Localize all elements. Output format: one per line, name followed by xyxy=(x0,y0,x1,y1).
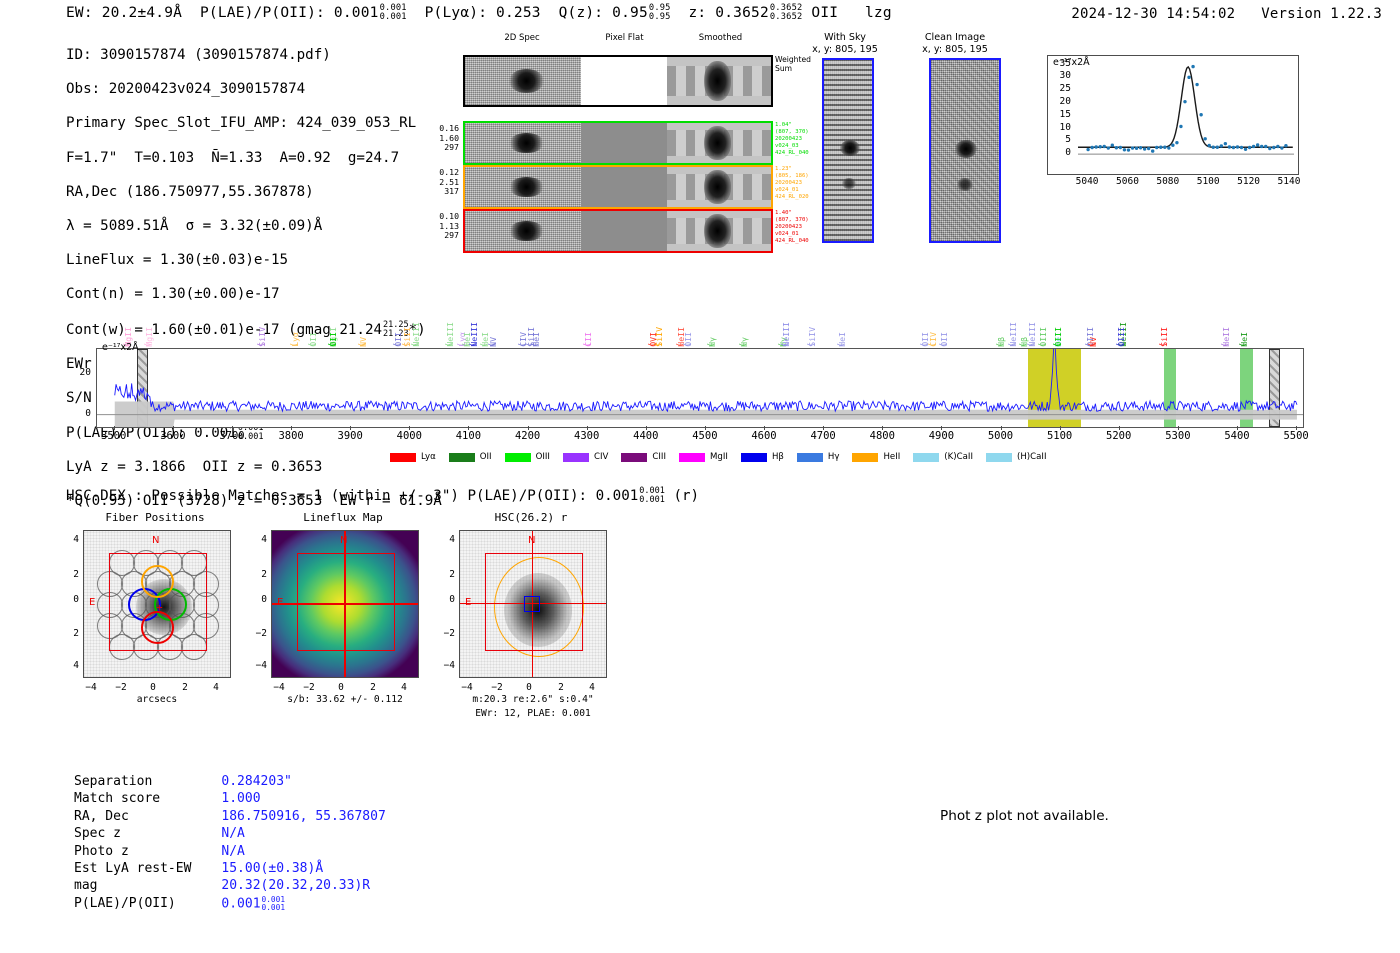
match-value: N/A xyxy=(221,826,385,841)
table-row: Est LyA rest-EW15.00(±0.38)Å xyxy=(74,861,386,876)
panel-ytick: −2 xyxy=(243,628,267,639)
panel-xtick: −2 xyxy=(483,682,511,693)
spectrum-line-bracket: ( xyxy=(1159,342,1169,347)
montage-row[interactable] xyxy=(463,121,773,165)
spectrum-xtick-mark xyxy=(1060,426,1061,430)
spectrum-xtick: 4000 xyxy=(385,430,433,442)
spectrum-xtick-mark xyxy=(173,426,174,430)
spectrum-xtick-mark xyxy=(1178,426,1179,430)
match-value: 186.750916, 55.367807 xyxy=(221,809,385,824)
header-flag: lzg xyxy=(865,5,892,21)
montage-row[interactable] xyxy=(463,55,773,107)
match-key: P(LAE)/P(OII) xyxy=(74,896,219,912)
panel-xtick: −2 xyxy=(107,682,135,693)
header-z: z: 0.3652 xyxy=(689,5,769,21)
spectrum-xtick-mark xyxy=(1296,426,1297,430)
match-value: N/A xyxy=(221,844,385,859)
compass-north-label: N xyxy=(152,535,159,546)
spectrum-legend-item: (H)CaII xyxy=(986,452,1047,462)
match-value: 1.000 xyxy=(221,791,385,806)
spectrum-xtick: 3800 xyxy=(267,430,315,442)
montage-row-left-label: 0.10 1.13 297 xyxy=(425,212,459,241)
fiber-marker-red xyxy=(141,611,174,644)
spectrum-flux-unit: e⁻¹⁷x2Å xyxy=(102,342,139,353)
legend-swatch xyxy=(621,453,647,462)
spectrum-line-bracket: ( xyxy=(739,342,749,347)
spectrum-line-bracket: ( xyxy=(257,342,267,347)
panel-ytick: 2 xyxy=(243,569,267,580)
match-key: Match score xyxy=(74,791,219,806)
cell-smoothed xyxy=(667,57,771,105)
table-row: RA, Dec186.750916, 55.367807 xyxy=(74,809,386,824)
zoom-xtick: 5120 xyxy=(1227,176,1271,187)
cell-2d-spec xyxy=(465,167,581,207)
target-crosshair: + xyxy=(156,601,163,614)
table-row: Separation0.284203" xyxy=(74,774,386,789)
zoomplot-canvas xyxy=(1048,56,1300,176)
header-plae: P(LAE)/P(OII): 0.001 xyxy=(200,5,379,21)
spectrum-xtick-mark xyxy=(468,426,469,430)
spectrum-xtick-mark xyxy=(941,426,942,430)
cutout-title-clean: Clean Image x, y: 805, 195 xyxy=(905,32,1005,55)
cell-2d-spec xyxy=(465,211,581,251)
panel-xtick: 4 xyxy=(202,682,230,693)
panel-xtick: 4 xyxy=(390,682,418,693)
montage-row[interactable] xyxy=(463,209,773,253)
spectrum-xtick-mark xyxy=(882,426,883,430)
cutout-clean-title: Clean Image xyxy=(905,32,1005,44)
spectrum-xtick-mark xyxy=(232,426,233,430)
header-qz-lo: 0.95 xyxy=(649,13,671,22)
hsc-match-headline: HSC-DEX : Possible Matches = 1 (within +… xyxy=(66,487,699,505)
spectrum-xtick: 4800 xyxy=(858,430,906,442)
panel-xtick: −2 xyxy=(295,682,323,693)
spectrum-line-bracket: ( xyxy=(469,342,479,347)
zoom-ytick: 25 xyxy=(1043,83,1071,94)
hsc-headline-lo: 0.001 xyxy=(639,496,665,505)
panel-xtick: 2 xyxy=(547,682,575,693)
lineflux-red-box xyxy=(297,553,395,651)
match-details-body: Separation0.284203"Match score1.000RA, D… xyxy=(74,774,386,912)
spectrum-xtick: 3600 xyxy=(149,430,197,442)
compass-north-label-2: N xyxy=(340,535,347,546)
spectrum-xtick: 4700 xyxy=(799,430,847,442)
legend-label: CIV xyxy=(594,452,608,462)
montage-row-left-label: 0.12 2.51 317 xyxy=(425,168,459,197)
hsc-headline-tail: (r) xyxy=(673,488,699,504)
panel-xtick: 2 xyxy=(171,682,199,693)
spectrum-line-bracket: ( xyxy=(583,342,593,347)
timestamp: 2024-12-30 14:54:02 xyxy=(1071,6,1235,22)
cell-smoothed xyxy=(667,123,771,163)
panel-ytick: 2 xyxy=(55,628,79,639)
spectrum-xtick-mark xyxy=(114,426,115,430)
legend-label: (K)CaII xyxy=(944,452,973,462)
spectrum-legend-item: MgII xyxy=(679,452,728,462)
table-row: Spec zN/A xyxy=(74,826,386,841)
panel-ytick: 0 xyxy=(431,594,455,605)
photoz-unavailable-note: Phot z plot not available. xyxy=(940,808,1109,824)
spectrum-ytick: 20 xyxy=(60,367,91,378)
spectrum-xtick: 5400 xyxy=(1213,430,1261,442)
spectrum-line-bracket: ( xyxy=(144,342,154,347)
spectrum-xtick-mark xyxy=(291,426,292,430)
legend-swatch xyxy=(449,453,475,462)
emission-line-zoom-plot: e⁻¹⁷x2Å 05101520253035 50405060508051005… xyxy=(1047,55,1299,175)
panel-ytick: 0 xyxy=(243,594,267,605)
hsc-headline-text: HSC-DEX : Possible Matches = 1 (within +… xyxy=(66,488,638,504)
montage-weighted-sum-label: Weighted Sum xyxy=(775,55,811,73)
legend-label: HeII xyxy=(883,452,900,462)
match-details-table: Separation0.284203"Match score1.000RA, D… xyxy=(72,772,388,914)
match-value: 0.0010.0010.001 xyxy=(221,896,385,912)
header-z-lo: 0.3652 xyxy=(770,13,803,22)
match-key: RA, Dec xyxy=(74,809,219,824)
spectrum-xtick: 4300 xyxy=(563,430,611,442)
spectrum-xtick: 4200 xyxy=(504,430,552,442)
match-key: Spec z xyxy=(74,826,219,841)
spectrum-xtick: 4500 xyxy=(681,430,729,442)
panel-xtick: 0 xyxy=(327,682,355,693)
spectrum-xtick-mark xyxy=(705,426,706,430)
hsc-r-caption2: EWr: 12, PLAE: 0.001 xyxy=(431,708,635,720)
spectrum-legend-item: Hβ xyxy=(741,452,784,462)
header-plae-lo: 0.001 xyxy=(380,13,407,22)
spectrum-xtick: 4600 xyxy=(740,430,788,442)
spectrum-line-bracket: ( xyxy=(1221,342,1231,347)
spectrum-legend-item: OII xyxy=(449,452,492,462)
match-key: Photo z xyxy=(74,844,219,859)
table-row: P(LAE)/P(OII)0.0010.0010.001 xyxy=(74,896,386,912)
info-lineflux: LineFlux = 1.30(±0.03)e-15 xyxy=(66,252,442,269)
panel-ytick: 4 xyxy=(431,534,455,545)
zoom-xtick: 5100 xyxy=(1186,176,1230,187)
spectrum-xtick: 5100 xyxy=(1036,430,1084,442)
compass-east-label-3: E xyxy=(465,597,471,608)
spectrum-line-bracket: ( xyxy=(683,342,693,347)
spectrum-legend-item: OIII xyxy=(505,452,550,462)
zoom-ytick: 0 xyxy=(1043,147,1071,158)
match-value: 0.284203" xyxy=(221,774,385,789)
spectrum-xtick-mark xyxy=(823,426,824,430)
fiber-positions-xlabel: arcsecs xyxy=(83,694,231,706)
panel-ytick: 2 xyxy=(55,569,79,580)
cell-smoothed xyxy=(667,211,771,251)
spectrum-xtick: 3900 xyxy=(326,430,374,442)
montage-row-left-label: 0.16 1.60 297 xyxy=(425,124,459,153)
compass-north-label-3: N xyxy=(528,535,535,546)
spectrum-xtick-mark xyxy=(528,426,529,430)
match-key: Separation xyxy=(74,774,219,789)
legend-swatch xyxy=(679,453,705,462)
match-value: 15.00(±0.38)Å xyxy=(221,861,385,876)
version-label: Version 1.22.3 xyxy=(1261,6,1382,22)
panel-ytick: 4 xyxy=(55,534,79,545)
legend-swatch xyxy=(505,453,531,462)
fiber-positions-title: Fiber Positions xyxy=(55,512,255,524)
spectrum-line-bracket: ( xyxy=(781,342,791,347)
legend-label: OIII xyxy=(536,452,550,462)
info-radec: RA,Dec (186.750977,55.367878) xyxy=(66,184,442,201)
spectrum-xtick: 4900 xyxy=(917,430,965,442)
spectrum-line-bracket: ( xyxy=(308,342,318,347)
legend-swatch xyxy=(986,453,1012,462)
spectrum-legend-item: CIII xyxy=(621,452,666,462)
spectrum-xtick-mark xyxy=(1001,426,1002,430)
panel-ytick: −2 xyxy=(431,628,455,639)
spectrum-legend-item: (K)CaII xyxy=(913,452,973,462)
spectrum-xtick-mark xyxy=(646,426,647,430)
cutout-title-with-sky: With Sky x, y: 805, 195 xyxy=(800,32,890,55)
legend-label: (H)CaII xyxy=(1017,452,1047,462)
spectrum-xtick: 3700 xyxy=(208,430,256,442)
spectrum-line-bracket: ( xyxy=(445,342,455,347)
cell-smoothed xyxy=(667,167,771,207)
spectrum-line-bracket: ( xyxy=(1038,342,1048,347)
legend-swatch xyxy=(563,453,589,462)
spectrum-xtick: 3500 xyxy=(90,430,138,442)
hsc-r-title: HSC(26.2) r xyxy=(431,512,631,524)
spectrum-line-bracket: ( xyxy=(1239,342,1249,347)
hsc-r-image[interactable]: N E xyxy=(459,530,607,678)
fiber-marker-orange xyxy=(141,565,174,598)
header-qz: Q(z): 0.95 xyxy=(559,5,648,21)
legend-label: MgII xyxy=(710,452,728,462)
info-obs: Obs: 20200423v024_3090157874 xyxy=(66,81,442,98)
zoom-ytick: 30 xyxy=(1043,70,1071,81)
panel-ytick: −4 xyxy=(243,660,267,671)
header-ew: EW: 20.2±4.9Å xyxy=(66,5,182,21)
spectrum-line-bracket: ( xyxy=(807,342,817,347)
cell-pixel-flat xyxy=(581,57,667,105)
spectrum-ytick: 0 xyxy=(60,408,91,419)
header-timestamp-version: 2024-12-30 14:54:02 Version 1.22.3 xyxy=(1071,6,1382,22)
cutout-clean-coords: x, y: 805, 195 xyxy=(905,44,1005,56)
spectrum-line-bracket: ( xyxy=(996,342,1006,347)
panel-xtick: 0 xyxy=(515,682,543,693)
spectrum-line-bracket: ( xyxy=(488,342,498,347)
spectrum-xtick: 5000 xyxy=(977,430,1025,442)
lineflux-map-xlabel: s/b: 33.62 +/- 0.112 xyxy=(251,694,439,706)
zoom-ytick: 5 xyxy=(1043,134,1071,145)
panel-xtick: −4 xyxy=(265,682,293,693)
zoom-ytick: 20 xyxy=(1043,96,1071,107)
spectrum-xtick: 5200 xyxy=(1095,430,1143,442)
twod-spectra-montage: 2D Spec Pixel Flat Smoothed Weighted Sum… xyxy=(425,33,785,258)
spectrum-xtick: 4100 xyxy=(444,430,492,442)
montage-col-title-2dspec: 2D Spec xyxy=(463,33,581,43)
zoom-xtick: 5080 xyxy=(1146,176,1190,187)
legend-label: OII xyxy=(480,452,492,462)
spectrum-line-bracket: ( xyxy=(1116,342,1126,347)
spectrum-line-bracket: ( xyxy=(328,342,338,347)
spectrum-xtick-mark xyxy=(587,426,588,430)
spectrum-legend: LyαOIIOIIICIVCIIIMgIIHβHγHeII(K)CaII(H)C… xyxy=(390,452,1047,462)
cell-pixel-flat xyxy=(581,167,667,207)
cutout-with-sky-image xyxy=(822,58,874,243)
legend-swatch xyxy=(797,453,823,462)
panel-xtick: 0 xyxy=(139,682,167,693)
panel-xtick: 4 xyxy=(578,682,606,693)
match-value-lo: 0.001 xyxy=(262,904,285,912)
spectrum-xtick-mark xyxy=(409,426,410,430)
legend-label: CIII xyxy=(652,452,666,462)
spectrum-xtick: 5500 xyxy=(1272,430,1320,442)
full-spectrum-plot: MgII(MgII(SiIV(Lyα(OII(MgII(OII(NV(OII(S… xyxy=(60,270,1340,470)
legend-swatch xyxy=(741,453,767,462)
legend-swatch xyxy=(390,453,416,462)
spectrum-line-bracket: ( xyxy=(939,342,949,347)
lineflux-map-image[interactable]: N E xyxy=(271,530,419,678)
spectrum-line-bracket: ( xyxy=(1053,342,1063,347)
montage-col-title-pixelflat: Pixel Flat xyxy=(581,33,668,43)
header-z-species: OII xyxy=(811,5,838,21)
table-row: Photo zN/A xyxy=(74,844,386,859)
cutout-with-sky-coords: x, y: 805, 195 xyxy=(800,44,890,56)
spectrum-line-bracket: ( xyxy=(1027,342,1037,347)
legend-label: Hγ xyxy=(828,452,840,462)
zoom-ytick: 15 xyxy=(1043,109,1071,120)
spectrum-xtick-mark xyxy=(350,426,351,430)
legend-label: Lyα xyxy=(421,452,436,462)
cell-2d-spec xyxy=(465,123,581,163)
legend-swatch xyxy=(913,453,939,462)
spectrum-line-bracket: ( xyxy=(928,342,938,347)
match-key: Est LyA rest-EW xyxy=(74,861,219,876)
montage-col-title-smoothed: Smoothed xyxy=(668,33,773,43)
compass-east-label: E xyxy=(89,597,95,608)
spectrum-legend-item: HeII xyxy=(852,452,900,462)
legend-swatch xyxy=(852,453,878,462)
spectrum-line-bracket: ( xyxy=(411,342,421,347)
panel-xtick: −4 xyxy=(453,682,481,693)
table-row: Match score1.000 xyxy=(74,791,386,806)
panel-ytick: −4 xyxy=(431,660,455,671)
fiber-positions-image[interactable]: + N E xyxy=(83,530,231,678)
spectrum-xtick-mark xyxy=(1119,426,1120,430)
spectrum-legend-item: Lyα xyxy=(390,452,436,462)
spectrum-line-bracket: ( xyxy=(1008,342,1018,347)
table-row: mag20.32(20.32,20.33)R xyxy=(74,878,386,893)
info-seeing-params: F=1.7" T=0.103 N̄=1.33 A=0.92 g=24.7 xyxy=(66,150,442,167)
zoom-xtick: 5060 xyxy=(1106,176,1150,187)
zoom-xtick: 5140 xyxy=(1267,176,1311,187)
cell-pixel-flat xyxy=(581,211,667,251)
spectrum-line-bracket: ( xyxy=(654,342,664,347)
spectrum-legend-item: CIV xyxy=(563,452,608,462)
spectrum-line-bracket: ( xyxy=(707,342,717,347)
zoomplot-axes xyxy=(1047,55,1299,175)
montage-row[interactable] xyxy=(463,165,773,209)
spectrum-xtick-mark xyxy=(1237,426,1238,430)
cell-2d-spec xyxy=(465,57,581,105)
cell-pixel-flat xyxy=(581,123,667,163)
panel-ytick: 4 xyxy=(243,534,267,545)
header-plya: P(Lyα): 0.253 xyxy=(425,5,541,21)
cutout-clean-image xyxy=(929,58,1001,243)
spectrum-line-bracket: ( xyxy=(358,342,368,347)
lineflux-map-title: Lineflux Map xyxy=(243,512,443,524)
spectrum-legend-item: Hγ xyxy=(797,452,840,462)
cutout-with-sky-title: With Sky xyxy=(800,32,890,44)
panel-ytick: 4 xyxy=(55,660,79,671)
spectrum-canvas xyxy=(97,349,1303,427)
spectrum-line-bracket: ( xyxy=(1088,342,1098,347)
legend-label: Hβ xyxy=(772,452,784,462)
spectrum-line-bracket: ( xyxy=(531,342,541,347)
panel-ytick: 2 xyxy=(431,569,455,580)
spectrum-axes xyxy=(96,348,1304,428)
header-summary-line: EW: 20.2±4.9Å P(LAE)/P(OII): 0.0010.0010… xyxy=(66,4,892,22)
zoom-ytick: 35 xyxy=(1043,58,1071,69)
panel-xtick: 2 xyxy=(359,682,387,693)
match-value: 20.32(20.32,20.33)R xyxy=(221,878,385,893)
compass-east-label-2: E xyxy=(277,597,283,608)
info-lambda-sigma: λ = 5089.51Å σ = 3.32(±0.09)Å xyxy=(66,218,442,235)
info-id: ID: 3090157874 (3090157874.pdf) xyxy=(66,47,442,64)
spectrum-xtick-mark xyxy=(764,426,765,430)
hsc-red-box xyxy=(485,553,583,651)
spectrum-line-bracket: ( xyxy=(290,342,300,347)
zoom-ytick: 10 xyxy=(1043,122,1071,133)
spectrum-xtick: 5300 xyxy=(1154,430,1202,442)
match-key: mag xyxy=(74,878,219,893)
zoom-xtick: 5040 xyxy=(1065,176,1109,187)
panel-ytick: 0 xyxy=(55,594,79,605)
hsc-r-xlabel: m:20.3 re:2.6" s:0.4" xyxy=(431,694,635,706)
spectrum-xtick: 4400 xyxy=(622,430,670,442)
panel-xtick: −4 xyxy=(77,682,105,693)
spectrum-line-bracket: ( xyxy=(837,342,847,347)
info-primary-spec: Primary Spec_Slot_IFU_AMP: 424_039_053_R… xyxy=(66,115,442,132)
